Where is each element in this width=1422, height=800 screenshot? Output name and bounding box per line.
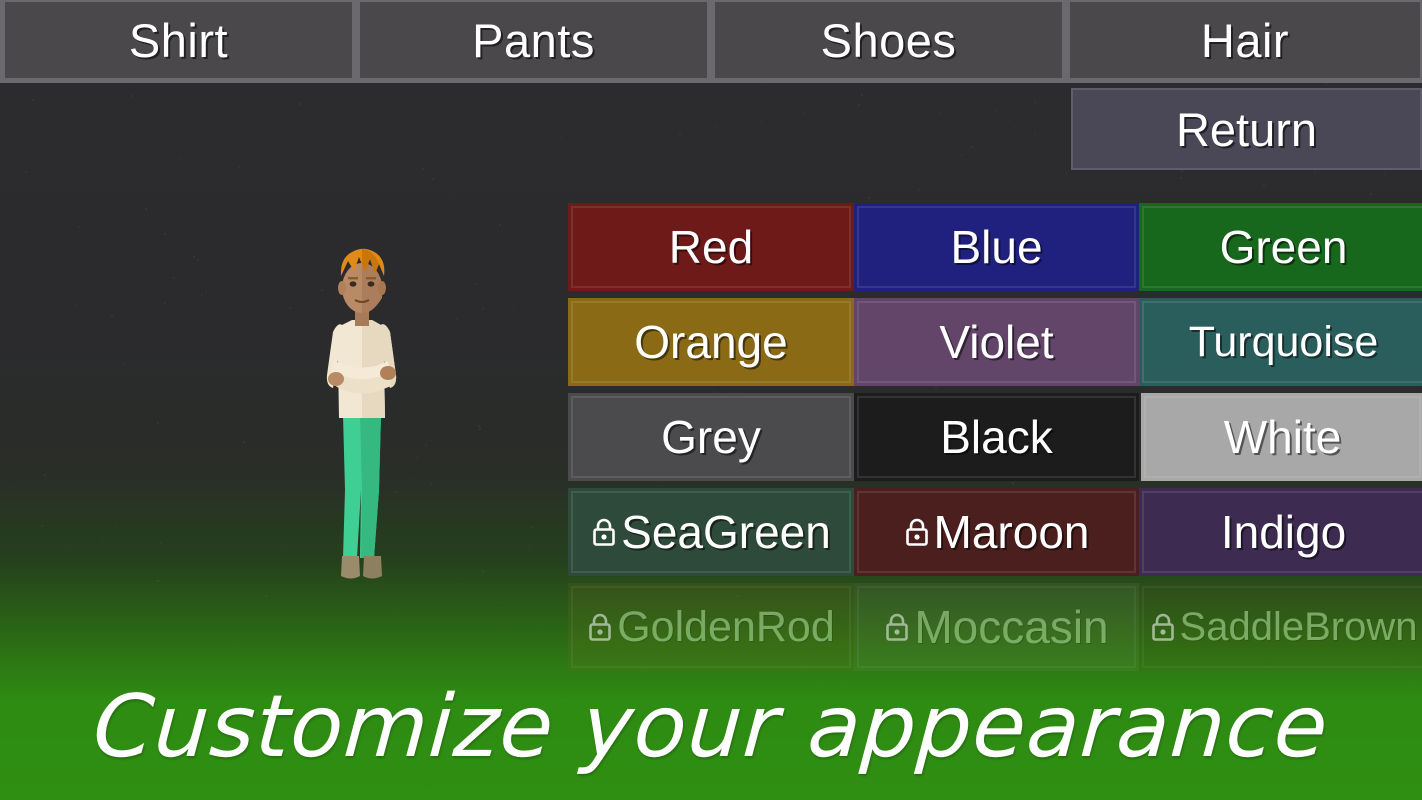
tab-pants[interactable]: Pants [360, 2, 707, 79]
color-swatch-violet[interactable]: Violet [854, 298, 1139, 386]
lock-icon [884, 612, 910, 642]
character-hand-left [328, 372, 344, 386]
color-swatch-saddlebrown[interactable]: SaddleBrown [1139, 583, 1422, 671]
color-option-grid: RedBlueGreenOrangeVioletTurquoiseGreyBla… [568, 203, 1422, 671]
color-swatch-red[interactable]: Red [568, 203, 854, 291]
color-swatch-goldenrod[interactable]: GoldenRod [568, 583, 854, 671]
color-grid-row: SeaGreenMaroonIndigo [568, 488, 1422, 576]
color-grid-row: OrangeVioletTurquoise [568, 298, 1422, 386]
color-swatch-green[interactable]: Green [1139, 203, 1422, 291]
color-grid-row: RedBlueGreen [568, 203, 1422, 291]
color-swatch-blue[interactable]: Blue [854, 203, 1139, 291]
color-swatch-label: Blue [950, 224, 1042, 270]
color-swatch-maroon[interactable]: Maroon [854, 488, 1139, 576]
color-grid-row: GreyBlackWhite [568, 393, 1422, 481]
tab-hair-label: Hair [1201, 13, 1289, 68]
return-button-label: Return [1176, 102, 1317, 157]
character-ear-left [338, 281, 346, 295]
lock-icon [904, 517, 930, 547]
tab-shoes-label: Shoes [821, 13, 957, 68]
color-swatch-label: Green [1220, 224, 1348, 270]
character-pants-shade [360, 415, 381, 558]
lock-icon [591, 517, 617, 547]
tab-shirt[interactable]: Shirt [5, 2, 352, 79]
character-brow-left [348, 277, 358, 279]
character-hand-right [380, 366, 396, 380]
color-swatch-orange[interactable]: Orange [568, 298, 854, 386]
page-caption: Customize your appearance [0, 672, 1422, 782]
color-grid-row: GoldenRodMoccasinSaddleBrown [568, 583, 1422, 671]
color-swatch-label: GoldenRod [617, 606, 835, 649]
color-swatch-grey[interactable]: Grey [568, 393, 854, 481]
tab-shirt-label: Shirt [129, 13, 228, 68]
character-brow-right [366, 277, 376, 279]
color-swatch-label: Black [940, 414, 1052, 460]
character-model [302, 240, 422, 590]
color-swatch-black[interactable]: Black [854, 393, 1139, 481]
color-swatch-label: Moccasin [914, 604, 1108, 650]
color-swatch-white[interactable]: White [1141, 393, 1422, 481]
tab-pants-label: Pants [472, 13, 595, 68]
character-eye-left [350, 281, 357, 286]
color-swatch-label: White [1224, 414, 1342, 460]
color-swatch-label: Orange [634, 319, 787, 365]
tab-shoes[interactable]: Shoes [715, 2, 1062, 79]
color-swatch-moccasin[interactable]: Moccasin [854, 583, 1139, 671]
character-shoe-right [363, 556, 382, 579]
tab-bar-underline [0, 78, 1422, 83]
color-swatch-label: Turquoise [1189, 321, 1379, 364]
color-swatch-seagreen[interactable]: SeaGreen [568, 488, 854, 576]
color-swatch-label: Red [669, 224, 753, 270]
color-swatch-label: Maroon [934, 509, 1090, 555]
color-swatch-label: Violet [939, 319, 1053, 365]
lock-icon [587, 612, 613, 642]
character-eye-right [368, 281, 375, 286]
game-screen: Shirt Pants Shoes Hair Return RedBlueGre… [0, 0, 1422, 800]
color-swatch-indigo[interactable]: Indigo [1139, 488, 1422, 576]
category-tab-bar: Shirt Pants Shoes Hair [0, 0, 1422, 82]
character-shoe-left [341, 556, 360, 579]
color-swatch-label: Indigo [1221, 509, 1346, 555]
return-button[interactable]: Return [1071, 88, 1422, 170]
color-swatch-label: SeaGreen [621, 509, 831, 555]
caption-text: Customize your appearance [90, 677, 1332, 777]
color-swatch-label: SaddleBrown [1180, 607, 1418, 647]
lock-icon [1150, 612, 1176, 642]
tab-hair[interactable]: Hair [1070, 2, 1420, 79]
color-swatch-label: Grey [661, 414, 761, 460]
character-ear-right [378, 281, 386, 295]
color-swatch-turquoise[interactable]: Turquoise [1139, 298, 1422, 386]
